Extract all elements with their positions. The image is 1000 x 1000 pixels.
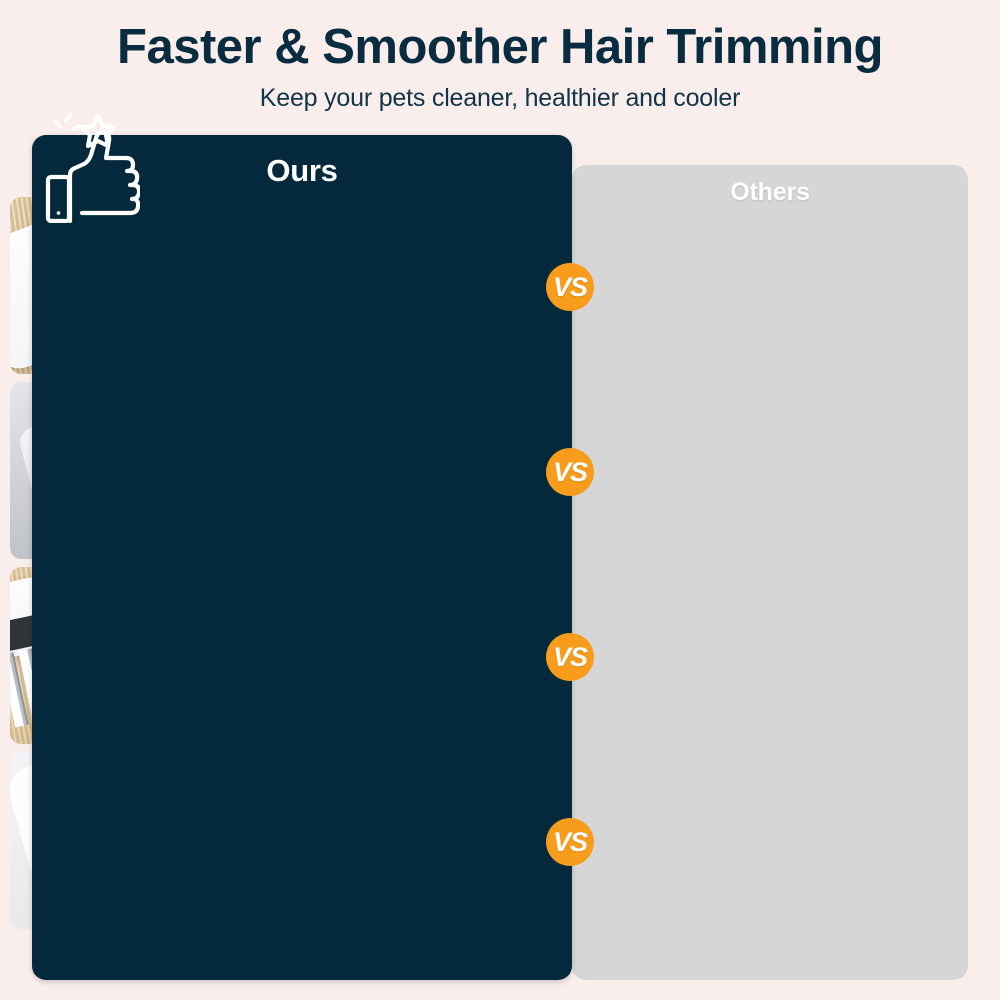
page-header: Faster & Smoother Hair Trimming Keep you… [0, 0, 1000, 113]
others-panel: Others [572, 165, 968, 980]
page-subtitle: Keep your pets cleaner, healthier and co… [0, 84, 1000, 113]
thumbs-up-star-icon [40, 113, 140, 223]
page-title: Faster & Smoother Hair Trimming [0, 22, 1000, 73]
others-panel-title: Others [572, 165, 968, 207]
ours-panel: Ours [32, 135, 572, 980]
comparison-section: Others Ours Efficiently suctioning hair [0, 135, 1000, 955]
